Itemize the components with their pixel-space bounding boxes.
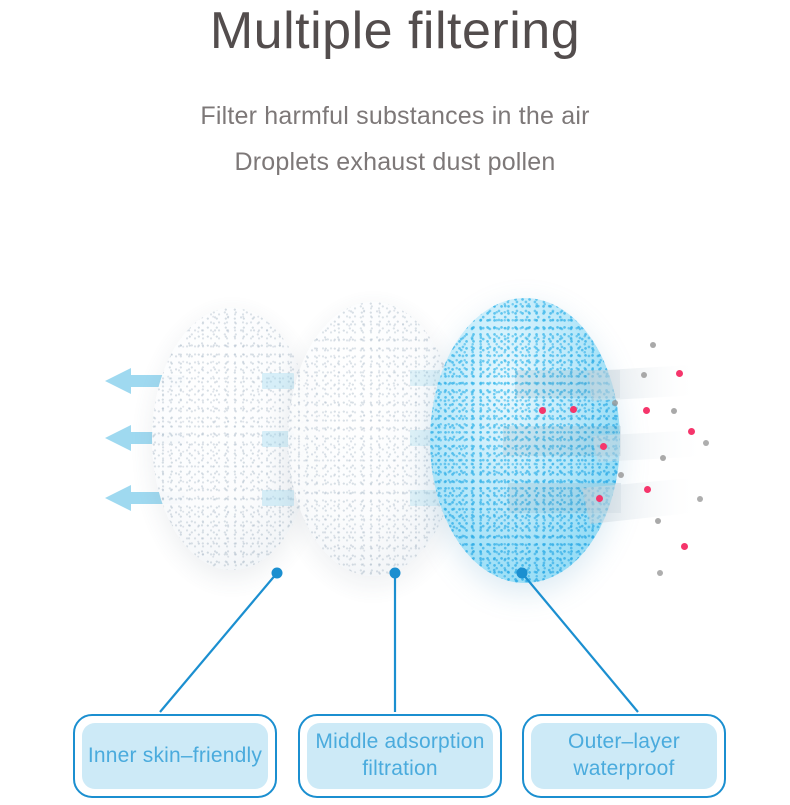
- particle-red: [600, 443, 607, 450]
- particle-grey: [650, 342, 656, 348]
- particle-red: [539, 407, 546, 414]
- particle-grey: [641, 372, 647, 378]
- particle-grey: [618, 472, 624, 478]
- page-title: Multiple filtering: [0, 2, 790, 62]
- particle-grey: [657, 570, 663, 576]
- particle-red: [570, 406, 577, 413]
- callout-inner-layer[interactable]: Inner skin–friendly: [73, 714, 277, 798]
- contaminated-airflow-band-middle: [592, 428, 717, 468]
- particle-grey: [671, 408, 677, 414]
- airflow-segment: [410, 370, 440, 386]
- particle-red: [596, 495, 603, 502]
- particle-grey: [703, 440, 709, 446]
- particle-grey: [655, 518, 661, 524]
- subtitle-line-1: Filter harmful substances in the air: [0, 102, 790, 131]
- particle-red: [688, 428, 695, 435]
- particle-red: [681, 543, 688, 550]
- particle-red: [644, 486, 651, 493]
- airflow-segment: [262, 373, 294, 389]
- particle-grey: [612, 400, 618, 406]
- particle-grey: [660, 455, 666, 461]
- infographic-canvas: Multiple filtering Filter harmful substa…: [0, 0, 790, 805]
- airflow-segment: [410, 490, 440, 506]
- callout-middle-layer[interactable]: Middle adsorption filtration: [298, 714, 502, 798]
- subtitle-line-2: Droplets exhaust dust pollen: [0, 148, 790, 177]
- callout-outer-layer[interactable]: Outer–layer waterproof: [522, 714, 726, 798]
- particle-red: [676, 370, 683, 377]
- filter-layers-illustration: [0, 250, 790, 610]
- particle-red: [643, 407, 650, 414]
- callout-middle-label: Middle adsorption filtration: [307, 723, 493, 789]
- airflow-segment: [262, 490, 294, 506]
- callout-inner-label: Inner skin–friendly: [82, 723, 268, 789]
- callout-outer-label: Outer–layer waterproof: [531, 723, 717, 789]
- particle-grey: [697, 496, 703, 502]
- contaminated-airflow-band-top: [588, 365, 708, 407]
